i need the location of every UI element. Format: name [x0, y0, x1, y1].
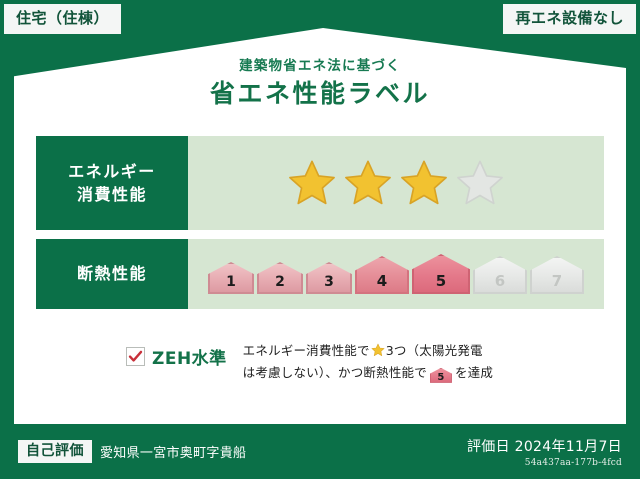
insulation-grade-value: 7 — [552, 274, 562, 294]
property-address: 愛知県一宮市奥町字貴船 — [100, 442, 246, 461]
row-insulation: 断熱性能 1234567 — [36, 239, 604, 309]
footer-left: 自己評価 愛知県一宮市奥町字貴船 — [18, 440, 246, 463]
zeh-desc-grade-value: 5 — [437, 372, 444, 383]
document-id: 54a437aa-177b-4fcd — [467, 458, 622, 468]
performance-rows: エネルギー 消費性能 断熱性能 1234567 — [36, 136, 604, 309]
row-energy-label-line1: エネルギー — [68, 160, 156, 183]
evaluation-date: 評価日 2024年11月7日 — [467, 436, 622, 456]
insulation-grade-1: 1 — [208, 262, 254, 294]
insulation-grade-7: 7 — [530, 256, 584, 294]
insulation-grade-2: 2 — [257, 262, 303, 294]
zeh-description-line2: は考慮しない）、かつ断熱性能で5を達成 — [243, 362, 604, 384]
zeh-desc-line1-post: 3つ（太陽光発電 — [386, 343, 483, 358]
row-insulation-label-line1: 断熱性能 — [77, 262, 147, 285]
title-main: 省エネ性能ラベル — [0, 78, 640, 109]
star-icon — [399, 158, 449, 208]
insulation-grade-value: 1 — [226, 275, 236, 294]
insulation-grade-value: 3 — [324, 275, 334, 294]
check-icon — [128, 349, 143, 364]
insulation-grade-value: 2 — [275, 275, 285, 294]
zeh-description-line1: エネルギー消費性能で3つ（太陽光発電 — [243, 340, 604, 362]
insulation-grade-6: 6 — [473, 256, 527, 294]
star-rating — [287, 158, 505, 208]
zeh-description: エネルギー消費性能で3つ（太陽光発電 は考慮しない）、かつ断熱性能で5を達成 — [243, 340, 604, 384]
building-type-tag: 住宅（住棟） — [4, 4, 121, 34]
insulation-grade-3: 3 — [306, 262, 352, 294]
label-footer: 自己評価 愛知県一宮市奥町字貴船 評価日 2024年11月7日 54a437aa… — [0, 424, 640, 479]
evaluation-type-tag: 自己評価 — [18, 440, 92, 463]
insulation-grade-5: 5 — [412, 254, 470, 294]
zeh-desc-grade-badge: 5 — [430, 368, 452, 383]
insulation-grade-value: 6 — [495, 274, 505, 294]
zeh-summary: ZEH水準 エネルギー消費性能で3つ（太陽光発電 は考慮しない）、かつ断熱性能で… — [36, 340, 604, 384]
footer-right: 評価日 2024年11月7日 54a437aa-177b-4fcd — [467, 436, 622, 468]
row-energy-label-line2: 消費性能 — [77, 183, 147, 206]
star-icon — [287, 158, 337, 208]
row-energy-consumption: エネルギー 消費性能 — [36, 136, 604, 230]
insulation-grade-4: 4 — [355, 256, 409, 294]
star-outline-icon — [455, 158, 505, 208]
page-title: 建築物省エネ法に基づく 省エネ性能ラベル — [0, 58, 640, 109]
row-insulation-label: 断熱性能 — [36, 239, 188, 309]
zeh-desc-line2-pre: は考慮しない）、かつ断熱性能で — [243, 365, 427, 380]
renewable-equipment-tag: 再エネ設備なし — [503, 4, 636, 34]
insulation-grade-value: 4 — [377, 274, 387, 294]
insulation-grade-scale: 1234567 — [208, 254, 584, 294]
star-icon — [343, 158, 393, 208]
row-energy-label: エネルギー 消費性能 — [36, 136, 188, 230]
insulation-grade-value: 5 — [436, 274, 446, 294]
zeh-mark: ZEH水準 — [36, 340, 227, 369]
zeh-label: ZEH水準 — [152, 344, 227, 369]
energy-performance-label: 住宅（住棟） 再エネ設備なし 建築物省エネ法に基づく 省エネ性能ラベル エネルギ… — [0, 0, 640, 479]
row-insulation-value: 1234567 — [188, 239, 604, 309]
zeh-desc-line1-pre: エネルギー消費性能で — [243, 343, 370, 358]
zeh-checkbox[interactable] — [126, 347, 145, 366]
star-icon — [371, 343, 385, 357]
title-subtitle: 建築物省エネ法に基づく — [0, 58, 640, 74]
zeh-desc-line2-post: を達成 — [455, 365, 493, 380]
row-energy-value — [188, 136, 604, 230]
